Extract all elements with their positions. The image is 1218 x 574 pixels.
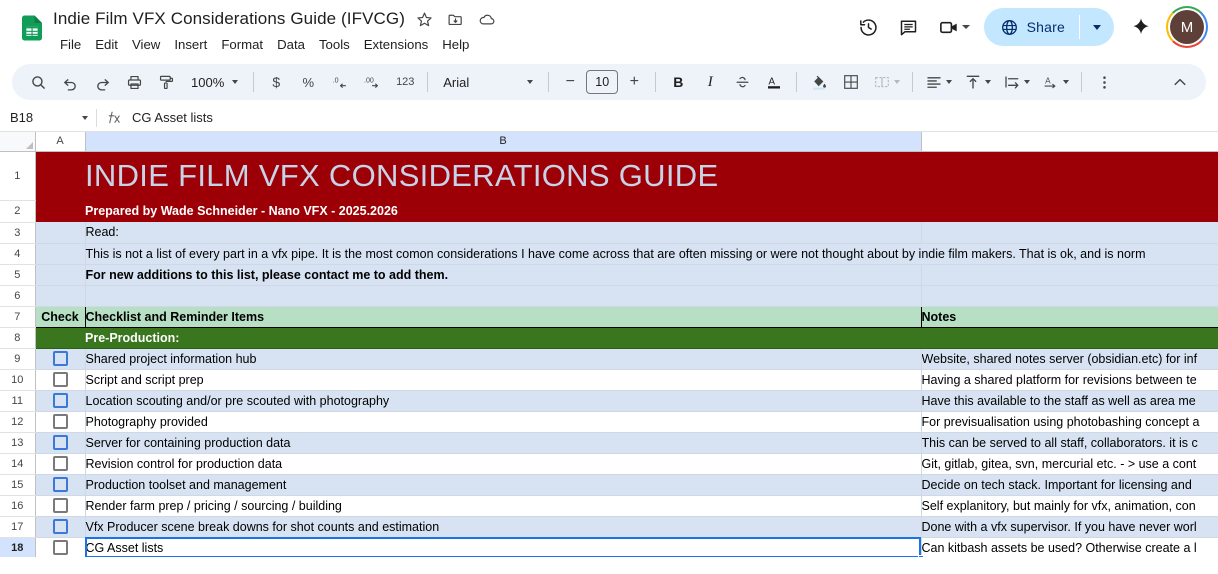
cell-a4[interactable]: [35, 243, 85, 264]
cell-b9[interactable]: Shared project information hub: [85, 348, 921, 369]
header-actions: Share M: [850, 6, 1208, 48]
cell-a6[interactable]: [35, 285, 85, 306]
row-header-1[interactable]: 1: [0, 151, 35, 200]
share-button[interactable]: Share: [984, 8, 1114, 46]
checkbox[interactable]: [53, 393, 68, 408]
table-row: 7 Check Checklist and Reminder Items Not…: [0, 306, 1218, 327]
cell-b16[interactable]: Render farm prep / pricing / sourcing / …: [85, 495, 921, 516]
font-family-value: Arial: [443, 75, 469, 90]
row-header-5[interactable]: 5: [0, 264, 35, 285]
cell-a14-checkbox-container[interactable]: [35, 453, 85, 474]
row-header-10[interactable]: 10: [0, 369, 35, 390]
row-header-12[interactable]: 12: [0, 411, 35, 432]
select-all-corner[interactable]: [0, 132, 35, 151]
formula-input[interactable]: CG Asset lists: [131, 104, 1218, 131]
table-row: 2 Prepared by Wade Schneider - Nano VFX …: [0, 200, 1218, 222]
table-row: 15 Production toolset and management Dec…: [0, 474, 1218, 495]
table-row: 13 Server for containing production data…: [0, 432, 1218, 453]
bold-button[interactable]: B: [664, 68, 692, 96]
cell-a16-checkbox-container[interactable]: [35, 495, 85, 516]
cell-c13[interactable]: This can be served to all staff, collabo…: [921, 432, 1218, 453]
cell-a17-checkbox-container[interactable]: [35, 516, 85, 537]
cell-a12-checkbox-container[interactable]: [35, 411, 85, 432]
cell-b4[interactable]: This is not a list of every part in a vf…: [85, 243, 1218, 264]
row-header-11[interactable]: 11: [0, 390, 35, 411]
table-row: 6: [0, 285, 1218, 306]
cell-c6[interactable]: [921, 285, 1218, 306]
cell-b11[interactable]: Location scouting and/or pre scouted wit…: [85, 390, 921, 411]
table-row: 11 Location scouting and/or pre scouted …: [0, 390, 1218, 411]
menu-item-data[interactable]: Data: [270, 35, 312, 54]
increase-decimal-icon[interactable]: .00: [358, 68, 387, 96]
svg-text:.0: .0: [332, 76, 338, 84]
cell-b18-selected[interactable]: CG Asset lists: [85, 537, 921, 557]
toolbar-divider: [912, 72, 913, 92]
cell-a3[interactable]: [35, 222, 85, 243]
cell-c14[interactable]: Git, gitlab, gitea, svn, mercurial etc. …: [921, 453, 1218, 474]
table-row: 4 This is not a list of every part in a …: [0, 243, 1218, 264]
cell-b17[interactable]: Vfx Producer scene break downs for shot …: [85, 516, 921, 537]
chevron-down-icon: [894, 80, 900, 84]
search-icon[interactable]: [24, 68, 52, 96]
version-history-icon[interactable]: [850, 8, 888, 46]
percent-format-button[interactable]: %: [294, 68, 322, 96]
menu-item-help[interactable]: Help: [435, 35, 476, 54]
cell-a8[interactable]: [35, 327, 85, 348]
chevron-down-icon: [527, 80, 533, 84]
chevron-down-icon: [82, 116, 88, 120]
column-header-a[interactable]: A: [35, 132, 85, 151]
cell-c15[interactable]: Decide on tech stack. Important for lice…: [921, 474, 1218, 495]
toolbar-divider: [427, 72, 428, 92]
cell-a7-header-check[interactable]: Check: [35, 306, 85, 327]
row-header-2[interactable]: 2: [0, 200, 35, 222]
row-header-17[interactable]: 17: [0, 516, 35, 537]
cell-a5[interactable]: [35, 264, 85, 285]
cell-b3[interactable]: Read:: [85, 222, 921, 243]
chevron-down-icon: [985, 80, 991, 84]
toolbar-divider: [1081, 72, 1082, 92]
cell-b10[interactable]: Script and script prep: [85, 369, 921, 390]
checkbox[interactable]: [53, 351, 68, 366]
checkbox[interactable]: [53, 519, 68, 534]
paint-format-icon[interactable]: [152, 68, 180, 96]
vertical-align-icon[interactable]: [960, 68, 995, 96]
checkbox[interactable]: [53, 477, 68, 492]
fill-color-icon[interactable]: [805, 68, 833, 96]
chevron-down-icon: [232, 80, 238, 84]
checkbox[interactable]: [53, 456, 68, 471]
cell-b13[interactable]: Server for containing production data: [85, 432, 921, 453]
cell-b18-text: CG Asset lists: [86, 541, 164, 555]
fx-icon: [97, 104, 131, 131]
zoom-value: 100%: [191, 75, 224, 90]
font-family-selector[interactable]: Arial: [436, 68, 540, 96]
checkbox[interactable]: [53, 540, 68, 555]
checkbox[interactable]: [53, 414, 68, 429]
cell-b7-header-items[interactable]: Checklist and Reminder Items: [85, 306, 921, 327]
row-header-13[interactable]: 13: [0, 432, 35, 453]
font-size-increase-button[interactable]: +: [621, 69, 647, 95]
table-row: 3 Read:: [0, 222, 1218, 243]
move-to-folder-icon[interactable]: [445, 8, 467, 30]
share-label: Share: [1027, 19, 1065, 35]
cell-b5[interactable]: For new additions to this list, please c…: [85, 264, 921, 285]
font-size-input[interactable]: 10: [586, 70, 618, 94]
cell-b2-subtitle[interactable]: Prepared by Wade Schneider - Nano VFX - …: [85, 200, 1218, 222]
row-header-18[interactable]: 18: [0, 537, 35, 557]
cell-b15[interactable]: Production toolset and management: [85, 474, 921, 495]
column-header-c[interactable]: [921, 132, 1218, 151]
redo-icon[interactable]: [88, 68, 116, 96]
table-row: 10 Script and script prep Having a share…: [0, 369, 1218, 390]
title-block: Indie Film VFX Considerations Guide (IFV…: [53, 6, 498, 55]
cell-a9-checkbox-container[interactable]: [35, 348, 85, 369]
cell-c16[interactable]: Self explanitory, but mainly for vfx, an…: [921, 495, 1218, 516]
cell-a18-checkbox-container[interactable]: [35, 537, 85, 557]
row-header-9[interactable]: 9: [0, 348, 35, 369]
strikethrough-icon[interactable]: [728, 68, 756, 96]
chevron-down-icon: [1093, 25, 1101, 30]
menu-bar: File Edit View Insert Format Data Tools …: [53, 33, 498, 55]
spreadsheet-grid[interactable]: A B 1 INDIE FILM VFX CONSIDERATIONS GUID…: [0, 132, 1218, 557]
table-row: 5 For new additions to this list, please…: [0, 264, 1218, 285]
star-icon[interactable]: [414, 8, 436, 30]
toolbar-divider: [655, 72, 656, 92]
cell-c18[interactable]: Can kitbash assets be used? Otherwise cr…: [921, 537, 1218, 557]
chevron-down-icon: [946, 80, 952, 84]
menu-item-extensions[interactable]: Extensions: [357, 35, 436, 54]
gemini-icon[interactable]: [1122, 8, 1160, 46]
table-row: 16 Render farm prep / pricing / sourcing…: [0, 495, 1218, 516]
chevron-down-icon: [962, 25, 970, 29]
checkbox[interactable]: [53, 498, 68, 513]
row-header-16[interactable]: 16: [0, 495, 35, 516]
table-row: 1 INDIE FILM VFX CONSIDERATIONS GUIDE: [0, 151, 1218, 200]
cell-a10-checkbox-container[interactable]: [35, 369, 85, 390]
menu-item-format[interactable]: Format: [214, 35, 270, 54]
borders-icon[interactable]: [837, 68, 865, 96]
avatar-initial: M: [1170, 10, 1204, 44]
row-header-3[interactable]: 3: [0, 222, 35, 243]
checkbox[interactable]: [53, 435, 68, 450]
name-box-value: B18: [10, 110, 33, 125]
cell-a13-checkbox-container[interactable]: [35, 432, 85, 453]
join-meet-button[interactable]: [930, 8, 974, 46]
cell-b6[interactable]: [85, 285, 921, 306]
cell-a11-checkbox-container[interactable]: [35, 390, 85, 411]
row-header-15[interactable]: 15: [0, 474, 35, 495]
more-options-icon[interactable]: [1090, 68, 1118, 96]
row-header-7[interactable]: 7: [0, 306, 35, 327]
column-header-row: A B: [0, 132, 1218, 151]
svg-text:A: A: [1045, 77, 1051, 86]
more-formats-button[interactable]: 123: [391, 68, 419, 96]
toolbar-wrapper: 100% $ % .0 .00 123 Arial − 10: [0, 60, 1218, 104]
cell-c3[interactable]: [921, 222, 1218, 243]
cell-c7-header-notes[interactable]: Notes: [921, 306, 1218, 327]
cell-c10[interactable]: Having a shared platform for revisions b…: [921, 369, 1218, 390]
cell-b12[interactable]: Photography provided: [85, 411, 921, 432]
svg-text:.00: .00: [364, 76, 374, 84]
column-header-b[interactable]: B: [85, 132, 921, 151]
table-row: 18 CG Asset lists Can kitbash assets be …: [0, 537, 1218, 557]
row-header-6[interactable]: 6: [0, 285, 35, 306]
chevron-down-icon: [1024, 80, 1030, 84]
cell-b14[interactable]: Revision control for production data: [85, 453, 921, 474]
cell-a15-checkbox-container[interactable]: [35, 474, 85, 495]
print-icon[interactable]: [120, 68, 148, 96]
name-box[interactable]: B18: [0, 104, 96, 131]
avatar[interactable]: M: [1166, 6, 1208, 48]
cell-c17[interactable]: Done with a vfx supervisor. If you have …: [921, 516, 1218, 537]
app-header: Indie Film VFX Considerations Guide (IFV…: [0, 0, 1218, 60]
currency-format-button[interactable]: $: [262, 68, 290, 96]
cell-c8[interactable]: [921, 327, 1218, 348]
merge-cells-icon[interactable]: [869, 68, 904, 96]
menu-item-tools[interactable]: Tools: [312, 35, 357, 54]
menu-item-insert[interactable]: Insert: [167, 35, 214, 54]
font-size-decrease-button[interactable]: −: [557, 69, 583, 95]
chevron-down-icon: [1063, 80, 1069, 84]
cell-b1-title[interactable]: INDIE FILM VFX CONSIDERATIONS GUIDE: [85, 151, 1218, 200]
svg-text:A: A: [769, 76, 776, 87]
cell-c11[interactable]: Have this available to the staff as well…: [921, 390, 1218, 411]
menu-item-file[interactable]: File: [53, 35, 88, 54]
sheet-table: A B 1 INDIE FILM VFX CONSIDERATIONS GUID…: [0, 132, 1218, 557]
row-header-8[interactable]: 8: [0, 327, 35, 348]
table-row: 9 Shared project information hub Website…: [0, 348, 1218, 369]
row-header-4[interactable]: 4: [0, 243, 35, 264]
toolbar: 100% $ % .0 .00 123 Arial − 10: [12, 64, 1206, 100]
cell-c9[interactable]: Website, shared notes server (obsidian.e…: [921, 348, 1218, 369]
share-dropdown-button[interactable]: [1080, 8, 1114, 46]
document-title[interactable]: Indie Film VFX Considerations Guide (IFV…: [53, 9, 405, 29]
row-header-14[interactable]: 14: [0, 453, 35, 474]
menu-item-view[interactable]: View: [125, 35, 167, 54]
font-size-stepper: − 10 +: [557, 69, 647, 95]
table-row: 12 Photography provided For previsualisa…: [0, 411, 1218, 432]
cell-b8-section[interactable]: Pre-Production:: [85, 327, 921, 348]
toolbar-divider: [548, 72, 549, 92]
share-main[interactable]: Share: [984, 8, 1079, 46]
text-wrapping-icon[interactable]: [999, 68, 1034, 96]
cell-a2[interactable]: [35, 200, 85, 222]
text-rotation-icon[interactable]: A: [1038, 68, 1073, 96]
menu-item-edit[interactable]: Edit: [88, 35, 125, 54]
table-row: 14 Revision control for production data …: [0, 453, 1218, 474]
checkbox[interactable]: [53, 372, 68, 387]
document-status-cloud-icon[interactable]: [476, 8, 498, 30]
cell-c12[interactable]: For previsualisation using photobashing …: [921, 411, 1218, 432]
toolbar-divider: [796, 72, 797, 92]
formula-bar: B18 CG Asset lists: [0, 104, 1218, 132]
toolbar-divider: [253, 72, 254, 92]
toolbar-right-group: [1164, 68, 1196, 96]
sheets-logo-icon[interactable]: [14, 10, 49, 45]
table-row: 8 Pre-Production:: [0, 327, 1218, 348]
text-color-icon[interactable]: A: [760, 68, 788, 96]
italic-button[interactable]: I: [696, 68, 724, 96]
comments-icon[interactable]: [890, 8, 928, 46]
title-row: Indie Film VFX Considerations Guide (IFV…: [53, 6, 498, 32]
selection-fill-handle[interactable]: [918, 555, 924, 558]
decrease-decimal-icon[interactable]: .0: [326, 68, 354, 96]
collapse-toolbar-icon[interactable]: [1166, 68, 1194, 96]
table-row: 17 Vfx Producer scene break downs for sh…: [0, 516, 1218, 537]
cell-c5[interactable]: [921, 264, 1218, 285]
undo-icon[interactable]: [56, 68, 84, 96]
cell-a1[interactable]: [35, 151, 85, 200]
zoom-control[interactable]: 100%: [184, 68, 245, 96]
horizontal-align-icon[interactable]: [921, 68, 956, 96]
